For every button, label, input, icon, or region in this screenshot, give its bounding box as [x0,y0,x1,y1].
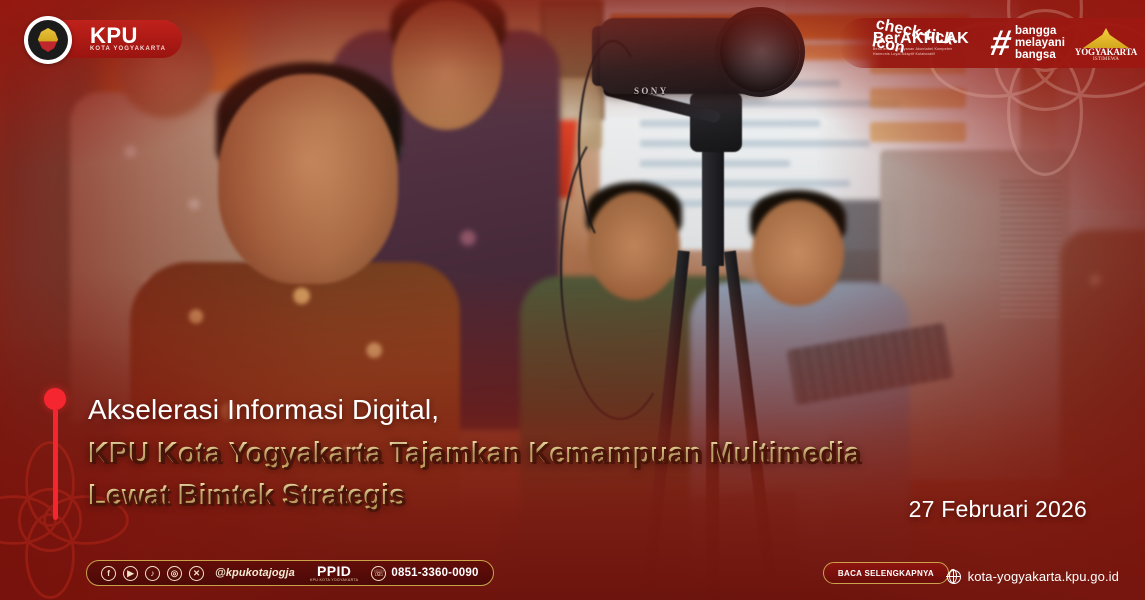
ppid-label: PPID [317,564,351,578]
check-tick-icon: check-tick-icon [870,15,979,72]
read-more-button[interactable]: BACA SELENGKAPNYA [823,562,949,584]
contact-pill: f ▶ ♪ ◎ ✕ @kpukotajogja PPID KPU KOTA YO… [86,560,494,586]
instagram-icon[interactable]: ◎ [167,566,182,581]
badge-bangga-lines: bangga melayani bangsa [1015,25,1065,61]
photo-tripod-column [702,146,724,266]
tiktok-icon[interactable]: ♪ [145,566,160,581]
headline-line-2: KPU Kota Yogyakarta Tajamkan Kemampuan M… [88,432,1108,474]
kpu-logo[interactable]: KPU KOTA YOGYAKARTA [24,16,182,62]
badge-jogja-title: YOGYAKARTA [1075,48,1137,57]
top-right-badges: check-tick-icon BerAKHLAK Berorientasi P… [839,18,1145,68]
ppid-subtitle: KPU KOTA YOGYAKARTA [310,578,359,583]
red-pin-stem [53,410,58,520]
facebook-icon[interactable]: f [101,566,116,581]
garuda-seal-icon [24,16,72,64]
youtube-icon[interactable]: ▶ [123,566,138,581]
badge-jogja-subtitle: ISTIMEWA [1093,57,1119,63]
x-twitter-icon[interactable]: ✕ [189,566,204,581]
headline-line-1: Akselerasi Informasi Digital, [88,392,1108,428]
badge-bangga-melayani-bangsa: # bangga melayani bangsa [981,25,1075,61]
globe-icon [947,570,961,584]
website-block[interactable]: kota-yogyakarta.kpu.go.id [947,569,1119,584]
badge-jogja-istimewa: YOGYAKARTA ISTIMEWA [1075,23,1137,63]
phone-number: 0851-3360-0090 [391,567,478,579]
ppid-badge: PPID KPU KOTA YOGYAKARTA [310,564,359,583]
social-handle: @kpukotajogja [215,567,295,579]
red-pin-dot [44,388,66,410]
kpu-logo-title: KPU [90,26,166,45]
publish-date: 27 Februari 2026 [909,496,1087,523]
website-url: kota-yogyakarta.kpu.go.id [968,569,1119,584]
phone-block: ☏ 0851-3360-0090 [371,566,478,581]
badge-bangga-line3: bangsa [1015,49,1056,61]
hashtag-icon: # [988,27,1014,59]
kpu-logo-subtitle: KOTA YOGYAKARTA [90,45,166,53]
badge-bangga-line2: melayani [1015,37,1065,49]
red-pin-marker [44,388,66,518]
garuda-bird-shape [37,28,59,52]
badge-berakhlak: check-tick-icon BerAKHLAK Berorientasi P… [873,30,981,57]
banner-root: SONY [0,0,1145,600]
joglo-roof-icon [1083,28,1129,48]
badge-bangga-line1: bangga [1015,25,1057,37]
garuda-seal-inner [28,20,68,60]
phone-icon: ☏ [371,566,386,581]
